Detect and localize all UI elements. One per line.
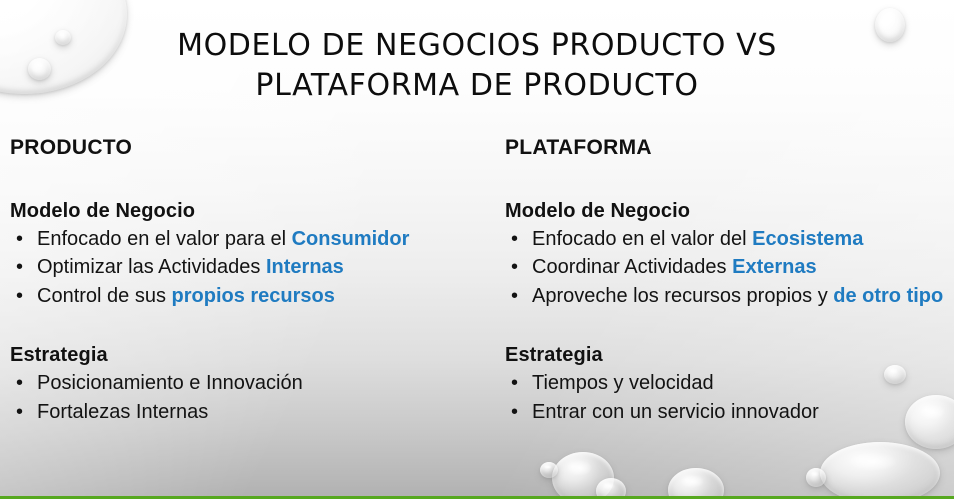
droplet-bottom-right-wide-icon [820, 442, 940, 499]
slide-title: MODELO DE NEGOCIOS PRODUCTO VS PLATAFORM… [0, 26, 954, 105]
plataforma-bullet-list: •Tiempos y velocidad•Entrar con un servi… [505, 369, 949, 426]
section-spacer [505, 310, 949, 344]
bullet-text: Enfocado en el valor del [532, 228, 752, 250]
bullet-item: •Posicionamiento e Innovación [10, 369, 494, 397]
column-producto-heading: PRODUCTO [10, 136, 494, 160]
producto-bullet-list: •Enfocado en el valor para el Consumidor… [10, 225, 494, 310]
droplet-bottom-center-icon [668, 468, 724, 499]
droplet-bottom-mid-large-icon [552, 452, 614, 499]
bullet-dot-icon: • [511, 253, 518, 281]
producto-section-heading: Modelo de Negocio [10, 200, 494, 223]
bullet-dot-icon: • [511, 225, 518, 253]
column-plataforma: PLATAFORMA Modelo de Negocio•Enfocado en… [505, 136, 949, 426]
bullet-item: •Optimizar las Actividades Internas [10, 253, 494, 281]
bullet-text: Tiempos y velocidad [532, 372, 714, 394]
highlighted-term: Internas [266, 256, 344, 278]
bullet-text: Control de sus [37, 285, 172, 307]
bullet-item: •Aproveche los recursos propios y de otr… [505, 282, 949, 310]
bullet-item: •Tiempos y velocidad [505, 369, 949, 397]
plataforma-bullet-list: •Enfocado en el valor del Ecosistema•Coo… [505, 225, 949, 310]
column-plataforma-sections: Modelo de Negocio•Enfocado en el valor d… [505, 200, 949, 426]
bullet-text: Aproveche los recursos propios y [532, 285, 833, 307]
slide-canvas: MODELO DE NEGOCIOS PRODUCTO VS PLATAFORM… [0, 0, 954, 499]
highlighted-term: propios recursos [172, 285, 335, 307]
bullet-dot-icon: • [511, 369, 518, 397]
section-spacer [10, 310, 494, 344]
bullet-dot-icon: • [16, 253, 23, 281]
highlighted-term: Consumidor [292, 228, 410, 250]
highlighted-term: de otro tipo [833, 285, 943, 307]
highlighted-term: Ecosistema [752, 228, 863, 250]
highlighted-term: Externas [732, 256, 817, 278]
bullet-text: Posicionamiento e Innovación [37, 372, 303, 394]
bullet-text: Enfocado en el valor para el [37, 228, 292, 250]
bullet-dot-icon: • [511, 282, 518, 310]
droplet-bottom-tiny-icon [806, 468, 826, 487]
bullet-dot-icon: • [16, 225, 23, 253]
bullet-text: Fortalezas Internas [37, 401, 208, 423]
slide-title-line-1: MODELO DE NEGOCIOS PRODUCTO VS [0, 26, 954, 66]
bullet-dot-icon: • [16, 282, 23, 310]
bullet-text: Optimizar las Actividades [37, 256, 266, 278]
bullet-item: •Fortalezas Internas [10, 398, 494, 426]
plataforma-section-heading: Estrategia [505, 344, 949, 367]
bullet-dot-icon: • [16, 369, 23, 397]
bullet-item: •Enfocado en el valor para el Consumidor [10, 225, 494, 253]
bullet-item: •Entrar con un servicio innovador [505, 398, 949, 426]
bullet-text: Coordinar Actividades [532, 256, 732, 278]
producto-bullet-list: •Posicionamiento e Innovación•Fortalezas… [10, 369, 494, 426]
bullet-dot-icon: • [16, 398, 23, 426]
column-producto-sections: Modelo de Negocio•Enfocado en el valor p… [10, 200, 494, 426]
producto-section-heading: Estrategia [10, 344, 494, 367]
bullet-dot-icon: • [511, 398, 518, 426]
bullet-item: •Control de sus propios recursos [10, 282, 494, 310]
plataforma-section-heading: Modelo de Negocio [505, 200, 949, 223]
column-plataforma-heading: PLATAFORMA [505, 136, 949, 160]
bullet-item: •Enfocado en el valor del Ecosistema [505, 225, 949, 253]
column-producto: PRODUCTO Modelo de Negocio•Enfocado en e… [10, 136, 494, 426]
droplet-bottom-mid-small-icon [540, 462, 558, 478]
slide-title-line-2: PLATAFORMA DE PRODUCTO [0, 66, 954, 106]
bullet-text: Entrar con un servicio innovador [532, 401, 819, 423]
bullet-item: •Coordinar Actividades Externas [505, 253, 949, 281]
